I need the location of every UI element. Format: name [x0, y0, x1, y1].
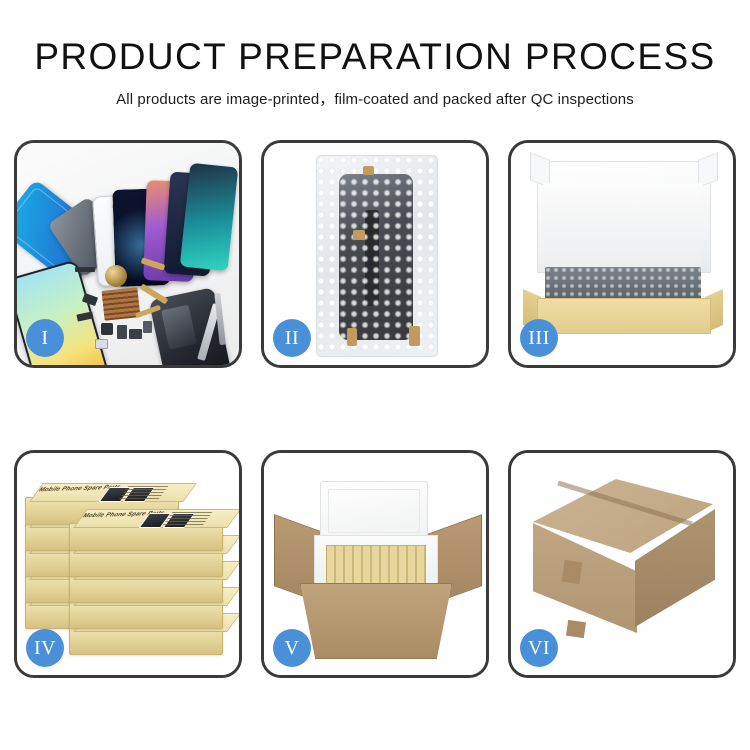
small-part — [101, 323, 113, 335]
foam-box-lid — [320, 481, 428, 541]
white-foam-insert — [543, 183, 703, 265]
step-badge-1: I — [26, 319, 64, 357]
tan-seal-tab — [347, 328, 357, 346]
logic-board-chip — [102, 287, 141, 321]
corrugated-carton — [300, 583, 452, 659]
tan-seal-tab — [353, 230, 365, 240]
packing-tape — [562, 560, 583, 584]
page-title: PRODUCT PREPARATION PROCESS — [0, 38, 750, 77]
kraft-boxes-inside — [326, 545, 426, 585]
step-badge-4: IV — [26, 629, 64, 667]
page-header: PRODUCT PREPARATION PROCESS All products… — [0, 0, 750, 109]
bubble-wrap-bag — [316, 155, 438, 357]
process-step-panel-4[interactable]: Mobile Phone Spare Parts Mobile Phone Sp… — [14, 450, 242, 678]
bubble-wrapped-contents — [545, 267, 701, 301]
small-part — [129, 329, 142, 339]
step-badge-6: VI — [520, 629, 558, 667]
tan-seal-tab — [363, 166, 374, 175]
retail-box: Mobile Phone Spare Parts — [69, 523, 223, 551]
retail-box — [69, 549, 223, 577]
copper-coil-part — [105, 265, 127, 287]
page-subtitle: All products are image-printed，film-coat… — [0, 88, 750, 109]
step-badge-2: II — [273, 319, 311, 357]
process-step-panel-6[interactable]: VI — [508, 450, 736, 678]
process-step-panel-2[interactable]: II — [261, 140, 489, 368]
teal-display-assembly — [180, 163, 239, 271]
small-part — [117, 325, 127, 339]
step-badge-3: III — [520, 319, 558, 357]
process-step-panel-3[interactable]: III — [508, 140, 736, 368]
process-step-panel-5[interactable]: V — [261, 450, 489, 678]
process-step-grid: I II III — [14, 140, 736, 678]
retail-box — [69, 575, 223, 603]
small-part — [75, 267, 95, 272]
retail-box — [69, 601, 223, 629]
small-part — [143, 321, 152, 333]
kraft-mailer-box — [537, 298, 711, 334]
small-part — [95, 339, 108, 349]
tan-seal-tab — [409, 326, 420, 346]
process-step-panel-1[interactable]: I — [14, 140, 242, 368]
packing-tape — [566, 620, 586, 638]
step-badge-5: V — [273, 629, 311, 667]
retail-box — [69, 627, 223, 655]
